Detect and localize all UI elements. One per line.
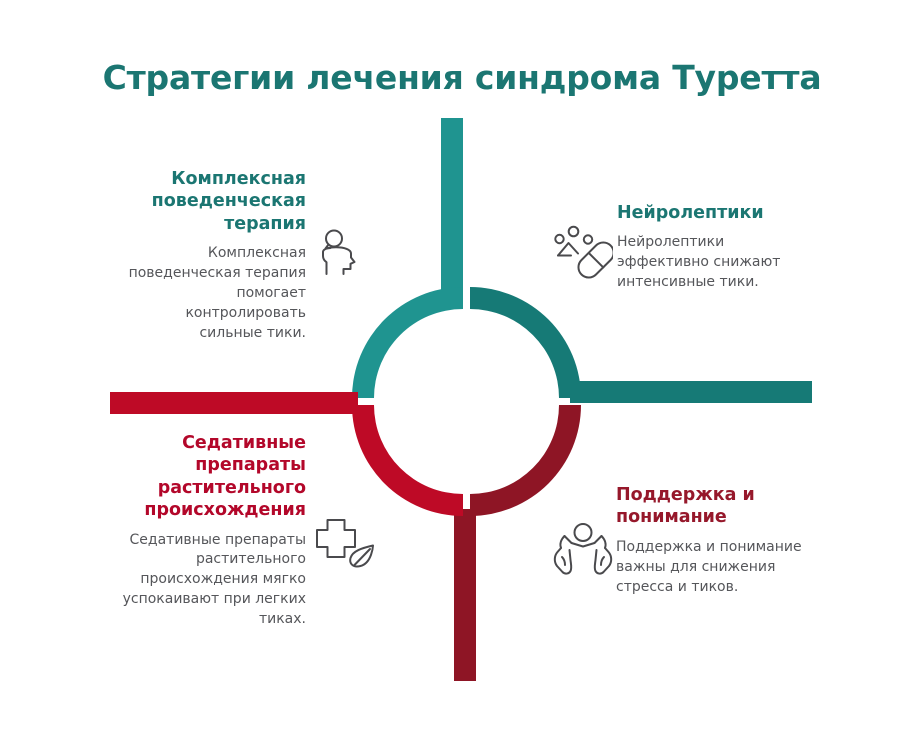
quadrant-bottom-left: Седативные препараты растительного проис… [120, 432, 306, 630]
pills-capsule-icon [551, 224, 613, 286]
quadrant-bottom-right: Поддержка и понимание Поддержка и понима… [616, 484, 826, 597]
arc-top-left [352, 287, 463, 398]
person-head-profile-icon [312, 226, 366, 280]
support-hands-person-icon [552, 521, 614, 583]
arc-bottom-right [470, 405, 581, 516]
connector-vertical-up [441, 118, 463, 294]
quadrant-top-left: Комплексная поведенческая терапия Компле… [128, 168, 306, 344]
connector-horizontal-left [110, 392, 358, 414]
quadrant-bottom-right-heading: Поддержка и понимание [616, 484, 826, 529]
quadrant-top-right-heading: Нейролептики [617, 202, 817, 224]
connector-vertical-down [454, 509, 476, 681]
quadrant-top-right-body: Нейролептики эффективно снижают интенсив… [617, 233, 817, 293]
medical-cross-leaf-icon [310, 516, 378, 574]
connector-horizontal-right [570, 381, 812, 403]
quadrant-top-left-body: Комплексная поведенческая терапия помога… [128, 244, 306, 343]
arc-top-right [470, 287, 581, 398]
segment-top-right [470, 287, 812, 403]
segment-top-left [352, 118, 463, 398]
quadrant-bottom-left-heading: Седативные препараты растительного проис… [120, 432, 306, 522]
quadrant-top-right: Нейролептики Нейролептики эффективно сни… [617, 202, 817, 293]
quadrant-bottom-right-body: Поддержка и понимание важны для снижения… [616, 538, 826, 598]
quadrant-top-left-heading: Комплексная поведенческая терапия [128, 168, 306, 235]
quadrant-bottom-left-body: Седативные препараты растительного проис… [120, 531, 306, 630]
infographic-canvas: Стратегии лечения синдрома Туретта Компл… [0, 0, 924, 732]
arc-bottom-left [352, 405, 463, 516]
